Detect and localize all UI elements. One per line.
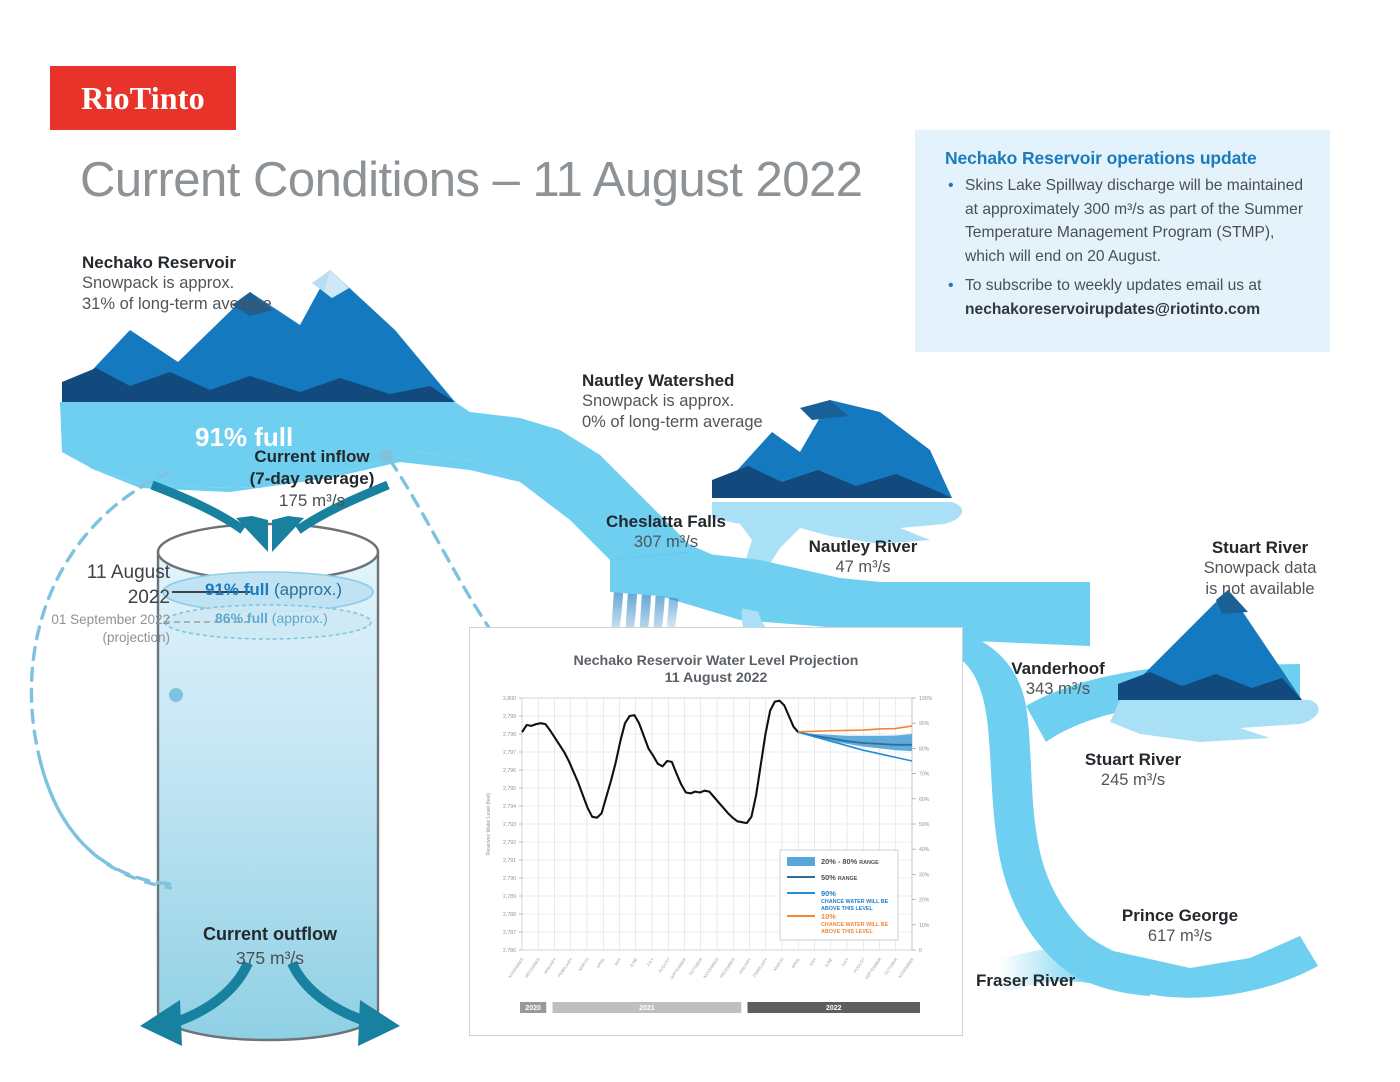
riotinto-logo: RioTinto — [50, 66, 236, 130]
prince-george-title: Prince George — [1100, 905, 1260, 926]
stuart-mountain-icon — [1118, 590, 1302, 700]
chart-xtick: JUNE — [823, 956, 833, 968]
chart-ytick: 2,795 — [503, 786, 516, 792]
level-current-rest: (approx.) — [269, 580, 342, 599]
chart-ytick: 2,798 — [503, 732, 516, 738]
chart-xtick: NOVEMBER — [507, 957, 525, 979]
callout-dot-cylinder — [169, 688, 183, 702]
chart-ytick: 2,788 — [503, 912, 516, 918]
subscribe-email[interactable]: nechakoreservoirupdates@riotinto.com — [965, 301, 1260, 318]
chart-xtick: NOVEMBER — [897, 957, 915, 979]
chart-xtick: DECEMBER — [719, 957, 736, 979]
chart-xtick: JANUARY — [737, 956, 752, 975]
nautley-watershed-label: Nautley Watershed Snowpack is approx. 0%… — [582, 370, 763, 433]
projection-date-line1: 01 September 2022 — [18, 611, 170, 629]
chart-title-line1: Nechako Reservoir Water Level Projection — [470, 653, 962, 670]
stuart-snow-line1: Snowpack data — [1160, 558, 1360, 579]
nautley-line2: 0% of long-term average — [582, 412, 763, 433]
chart-ytick: 2,796 — [503, 768, 516, 774]
chart-ytick: 2,799 — [503, 714, 516, 720]
operations-update-list: • Skins Lake Spillway discharge will be … — [943, 174, 1318, 327]
chart-xtick: APRIL — [790, 956, 801, 969]
chart-y2tick: 50% — [919, 822, 930, 828]
chart-year-label: 2022 — [826, 1005, 842, 1012]
chart-y2tick: 70% — [919, 772, 930, 778]
chart-ylabel: Reservoir Water Level (feet) — [486, 793, 492, 856]
chart-xtick: JUNE — [628, 956, 638, 968]
level-projection-label: 86% full (approx.) — [215, 610, 328, 626]
level-current-label: 91% full (approx.) — [205, 580, 342, 600]
chart-ytick: 2,790 — [503, 876, 516, 882]
callout-dashed-loop — [31, 472, 170, 884]
chart-plot: 2,8002,7992,7982,7972,7962,7952,7942,793… — [470, 690, 962, 1035]
chart-legend-label: 90% — [821, 889, 836, 898]
stuart-river-value: 245 m³/s — [1058, 770, 1208, 791]
list-item: • Skins Lake Spillway discharge will be … — [943, 174, 1318, 268]
chart-year-label: 2020 — [525, 1005, 541, 1012]
cheslatta-falls-label: Cheslatta Falls 307 m³/s — [604, 511, 728, 553]
chart-title-line2: 11 August 2022 — [470, 670, 962, 687]
outflow-title: Current outflow — [160, 922, 380, 946]
chart-legend-swatch — [787, 857, 815, 866]
chart-xtick: APRIL — [595, 956, 606, 969]
inflow-sub: (7-day average) — [212, 468, 412, 490]
stuart-river-label: Stuart River 245 m³/s — [1058, 749, 1208, 791]
stuart-snowpack-label: Stuart River Snowpack data is not availa… — [1160, 537, 1360, 600]
chart-legend-label: 10% — [821, 912, 836, 921]
stuart-river-title: Stuart River — [1058, 749, 1208, 770]
chart-ytick: 2,794 — [503, 804, 516, 810]
chart-legend-sub: CHANCE WATER WILL BE — [821, 922, 889, 928]
vanderhoof-title: Vanderhoof — [988, 658, 1128, 679]
list-item: • To subscribe to weekly updates email u… — [943, 274, 1318, 321]
chart-xtick: JANUARY — [542, 956, 557, 975]
chart-y2tick: 10% — [919, 923, 930, 929]
current-date-label: 11 August 2022 — [60, 560, 170, 610]
chart-xtick: FEBRUARY — [557, 956, 574, 977]
level-current-bold: 91% full — [205, 580, 269, 599]
chart-xtick: OCTOBER — [688, 957, 704, 976]
callout-dashed-tail — [40, 760, 172, 888]
chart-y2tick: 30% — [919, 872, 930, 878]
outflow-value: 375 m³/s — [160, 946, 380, 970]
chart-ytick: 2,786 — [503, 948, 516, 954]
bullet-icon: • — [948, 174, 954, 198]
nautley-line1: Snowpack is approx. — [582, 391, 763, 412]
water-level-chart-card: Nechako Reservoir Water Level Projection… — [469, 627, 963, 1036]
chart-xtick: MAY — [808, 956, 817, 966]
chart-xtick: AUGUST — [852, 956, 866, 973]
nechako-title: Nechako Reservoir — [82, 252, 272, 273]
chart-year-label: 2021 — [639, 1005, 655, 1012]
chart-y2tick: 60% — [919, 797, 930, 803]
nautley-title: Nautley Watershed — [582, 370, 763, 391]
chart-y2tick: 0 — [919, 948, 922, 954]
chart-xtick: SEPTEMBER — [864, 957, 883, 981]
cheslatta-value: 307 m³/s — [604, 532, 728, 553]
page-title: Current Conditions – 11 August 2022 — [80, 152, 862, 208]
chart-ytick: 2,789 — [503, 894, 516, 900]
current-outflow-label: Current outflow 375 m³/s — [160, 922, 380, 970]
projection-date-line2: (projection) — [18, 629, 170, 647]
chart-xtick: NOVEMBER — [702, 957, 720, 979]
chart-y2tick: 20% — [919, 898, 930, 904]
chart-y2tick: 80% — [919, 746, 930, 752]
cheslatta-title: Cheslatta Falls — [604, 511, 728, 532]
chart-ytick: 2,791 — [503, 858, 516, 864]
bullet-text-2: To subscribe to weekly updates email us … — [965, 277, 1261, 294]
chart-xtick: DECEMBER — [524, 957, 541, 979]
nautley-river-value: 47 m³/s — [800, 557, 926, 578]
logo-text: RioTinto — [81, 80, 205, 117]
level-projection-rest: (approx.) — [268, 610, 328, 626]
chart-y2tick: 90% — [919, 721, 930, 727]
current-date-line2: 2022 — [60, 585, 170, 610]
chart-y2tick: 100% — [919, 696, 933, 702]
chart-title: Nechako Reservoir Water Level Projection… — [470, 653, 962, 687]
nechako-line2: 31% of long-term average — [82, 294, 272, 315]
inflow-value: 175 m³/s — [212, 490, 412, 512]
prince-george-label: Prince George 617 m³/s — [1100, 905, 1260, 947]
chart-ytick: 2,792 — [503, 840, 516, 846]
chart-ytick: 2,793 — [503, 822, 516, 828]
operations-update-title: Nechako Reservoir operations update — [945, 148, 1257, 169]
chart-legend-sub: CHANCE WATER WILL BE — [821, 899, 889, 905]
prince-george-value: 617 m³/s — [1100, 926, 1260, 947]
chart-ytick: 2,800 — [503, 696, 516, 702]
chart-xtick: MAY — [613, 956, 622, 966]
stuart-snow-title: Stuart River — [1160, 537, 1360, 558]
chart-xtick: FEBRUARY — [752, 956, 769, 977]
nautley-river-label: Nautley River 47 m³/s — [800, 536, 926, 578]
vanderhoof-value: 343 m³/s — [988, 679, 1128, 700]
current-inflow-label: Current inflow (7-day average) 175 m³/s — [212, 446, 412, 512]
chart-y2tick: 40% — [919, 847, 930, 853]
chart-xtick: MARCH — [577, 957, 590, 972]
inflow-title: Current inflow — [212, 446, 412, 468]
chart-ytick: 2,787 — [503, 930, 516, 936]
vanderhoof-label: Vanderhoof 343 m³/s — [988, 658, 1128, 700]
chart-xtick: SEPTEMBER — [669, 957, 688, 981]
nechako-reservoir-label: Nechako Reservoir Snowpack is approx. 31… — [82, 252, 272, 315]
bullet-text-1: Skins Lake Spillway discharge will be ma… — [965, 177, 1303, 265]
chart-xtick: JULY — [840, 956, 850, 967]
chart-legend-sub: ABOVE THIS LEVEL — [821, 929, 874, 935]
nechako-line1: Snowpack is approx. — [82, 273, 272, 294]
chart-xtick: MARCH — [772, 957, 785, 972]
level-projection-bold: 86% full — [215, 610, 268, 626]
operations-update-box: Nechako Reservoir operations update • Sk… — [915, 130, 1330, 352]
fraser-river-label: Fraser River — [976, 971, 1075, 991]
nautley-river-title: Nautley River — [800, 536, 926, 557]
stuart-snow-line2: is not available — [1160, 579, 1360, 600]
bullet-icon: • — [948, 274, 954, 298]
projection-date-label: 01 September 2022 (projection) — [18, 611, 170, 647]
chart-ytick: 2,797 — [503, 750, 516, 756]
chart-xtick: AUGUST — [657, 956, 671, 973]
chart-xtick: OCTOBER — [883, 957, 899, 976]
current-date-line1: 11 August — [60, 560, 170, 585]
chart-xtick: JULY — [645, 956, 655, 967]
